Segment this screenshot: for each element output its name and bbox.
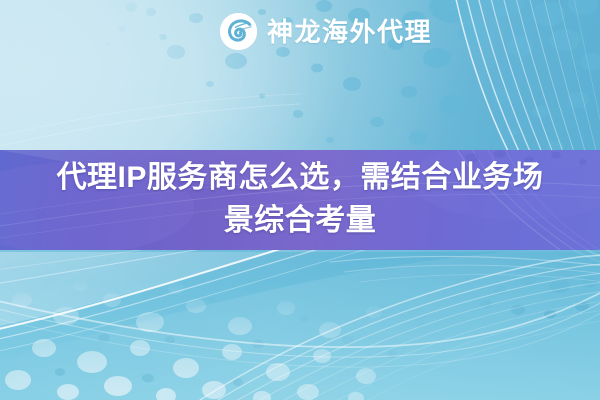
brand-lockup[interactable]: 神龙海外代理 (219, 12, 432, 51)
brand-name: 神龙海外代理 (267, 19, 432, 45)
spiral-wave-circle-icon (219, 12, 258, 51)
page-title: 代理IP服务商怎么选，需结合业务场 景综合考量 (0, 150, 600, 250)
banner-canvas: 代理IP服务商怎么选，需结合业务场 景综合考量 神龙海外代理 (0, 0, 600, 400)
page-title-line-1: 代理IP服务商怎么选，需结合业务场 (57, 157, 544, 200)
page-title-line-2: 景综合考量 (224, 200, 377, 243)
